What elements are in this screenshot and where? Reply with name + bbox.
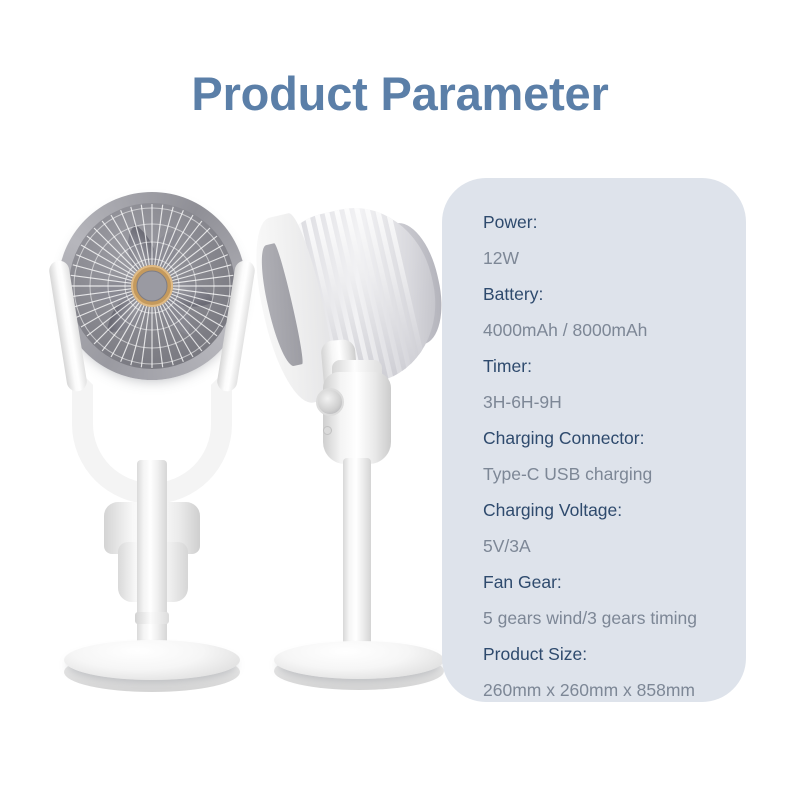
fan-pole-collar [135,612,169,624]
spec-row-battery: Battery: 4000mAh / 8000mAh [483,276,733,348]
spec-row-timer: Timer: 3H-6H-9H [483,348,733,420]
spec-value-fan-gear: 5 gears wind/3 gears timing [483,600,733,636]
page-title: Product Parameter [0,66,800,121]
spec-row-fan-gear: Fan Gear: 5 gears wind/3 gears timing [483,564,733,636]
fan-tilt-joint [323,372,391,464]
fan-base-disc [64,640,240,680]
fan-grille-icon [69,203,235,369]
spec-label-timer: Timer: [483,348,733,384]
product-image-front-fan [36,184,268,692]
spec-label-charging-connector: Charging Connector: [483,420,733,456]
fan-base-disc [274,641,444,679]
spec-value-timer: 3H-6H-9H [483,384,733,420]
spec-row-charging-voltage: Charging Voltage: 5V/3A [483,492,733,564]
spec-value-power: 12W [483,240,733,276]
fan-hinge-screw-icon [323,426,332,435]
spec-list: Power: 12W Battery: 4000mAh / 8000mAh Ti… [483,204,733,708]
spec-value-charging-connector: Type-C USB charging [483,456,733,492]
spec-row-charging-connector: Charging Connector: Type-C USB charging [483,420,733,492]
spec-label-battery: Battery: [483,276,733,312]
spec-label-power: Power: [483,204,733,240]
product-image-tilted-fan [250,190,458,690]
spec-label-product-size: Product Size: [483,636,733,672]
fan-head-front [58,192,246,380]
spec-value-battery: 4000mAh / 8000mAh [483,312,733,348]
spec-value-product-size: 260mm x 260mm x 858mm [483,672,733,708]
spec-row-power: Power: 12W [483,204,733,276]
spec-label-charging-voltage: Charging Voltage: [483,492,733,528]
fan-hinge-icon [316,388,344,416]
fan-inner-ring [69,203,235,369]
spec-row-product-size: Product Size: 260mm x 260mm x 858mm [483,636,733,708]
product-parameter-page: Product Parameter [0,0,800,800]
spec-panel: Power: 12W Battery: 4000mAh / 8000mAh Ti… [442,178,746,702]
fan-pole [343,458,371,648]
spec-label-fan-gear: Fan Gear: [483,564,733,600]
spec-value-charging-voltage: 5V/3A [483,528,733,564]
